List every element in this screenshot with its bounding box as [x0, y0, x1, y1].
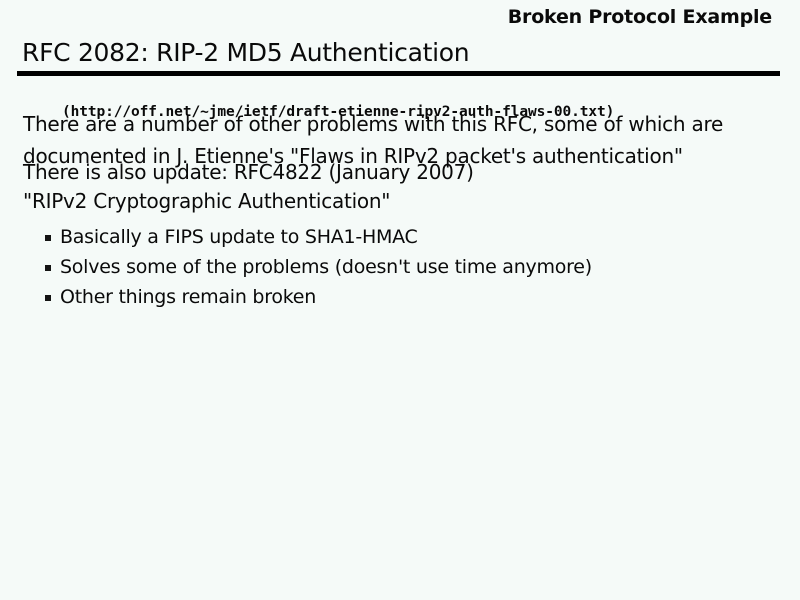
- list-item: Solves some of the problems (doesn't use…: [0, 252, 800, 282]
- page-title: RFC 2082: RIP-2 MD5 Authentication: [22, 38, 469, 67]
- update-line-2: "RIPv2 Cryptographic Authentication": [23, 189, 390, 213]
- reference-url: (http://off.net/~jme/ietf/draft-etienne-…: [62, 104, 614, 120]
- square-bullet-icon: [45, 295, 51, 301]
- slide-header-label: Broken Protocol Example: [508, 6, 772, 28]
- square-bullet-icon: [45, 235, 51, 241]
- list-item: Basically a FIPS update to SHA1-HMAC: [0, 222, 800, 252]
- list-item-label: Solves some of the problems (doesn't use…: [60, 256, 592, 278]
- list-item: Other things remain broken: [0, 282, 800, 312]
- bullet-list: Basically a FIPS update to SHA1-HMAC Sol…: [0, 222, 800, 312]
- update-line-1: There is also update: RFC4822 (January 2…: [23, 160, 474, 184]
- list-item-label: Other things remain broken: [60, 286, 316, 308]
- title-divider: [17, 71, 780, 76]
- slide: Broken Protocol Example RFC 2082: RIP-2 …: [0, 0, 800, 600]
- list-item-label: Basically a FIPS update to SHA1-HMAC: [60, 226, 418, 248]
- square-bullet-icon: [45, 265, 51, 271]
